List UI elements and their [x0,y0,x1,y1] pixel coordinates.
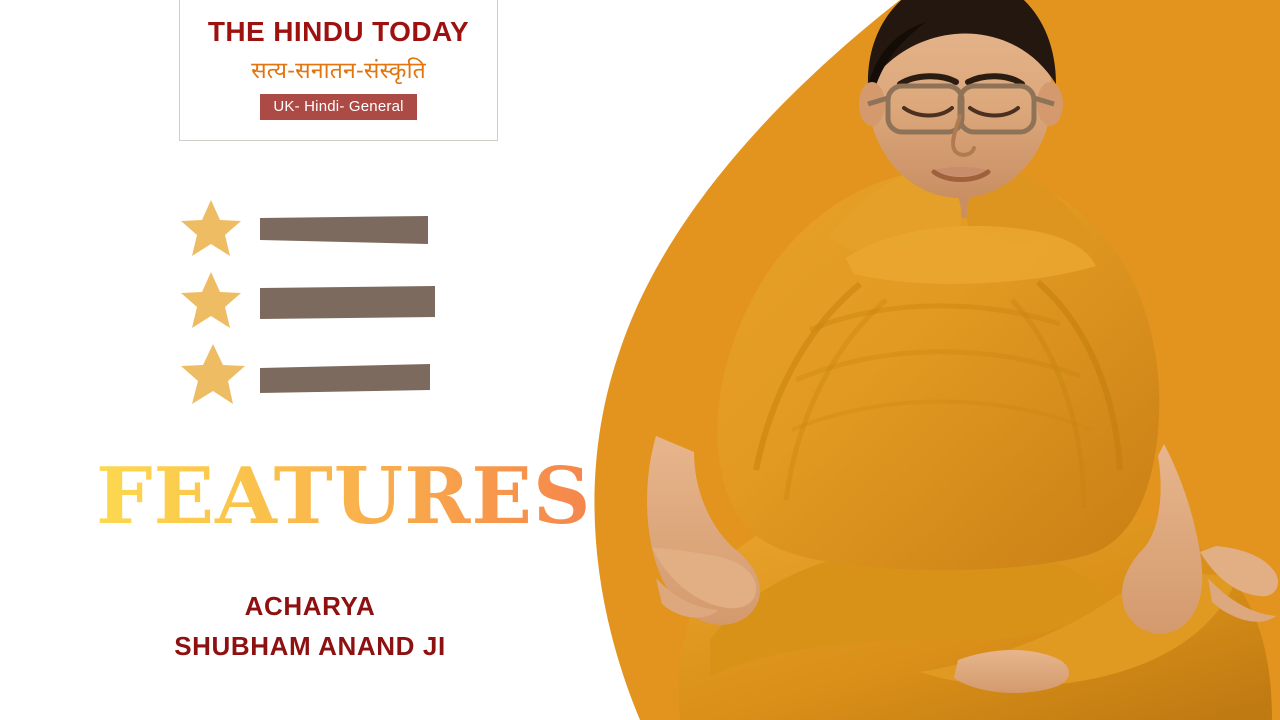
publication-category-badge: UK- Hindi- General [260,94,416,120]
list-item [180,342,480,414]
speaker-name-line2: SHUBHAM ANAND JI [60,626,560,666]
star-icon [180,198,242,258]
slide-canvas: THE HINDU TODAY सत्य-सनातन-संस्कृति UK- … [0,0,1280,720]
star-icon [180,270,242,330]
list-item-bar [260,364,432,396]
star-icon [180,342,246,406]
list-item [180,198,480,270]
publication-subtitle: सत्य-सनातन-संस्कृति [180,53,497,85]
bullet-list [180,198,480,414]
list-item [180,270,480,342]
page-title: FEATURES [96,458,591,536]
publication-logo-card: THE HINDU TODAY सत्य-सनातन-संस्कृति UK- … [179,0,498,141]
publication-title: THE HINDU TODAY [180,16,497,48]
list-item-bar [260,216,430,248]
speaker-name-line1: ACHARYA [60,586,560,626]
list-item-bar [260,286,436,322]
orange-blob-shape [560,0,1280,720]
photo-stage [560,0,1280,720]
speaker-name: ACHARYA SHUBHAM ANAND JI [60,586,560,667]
